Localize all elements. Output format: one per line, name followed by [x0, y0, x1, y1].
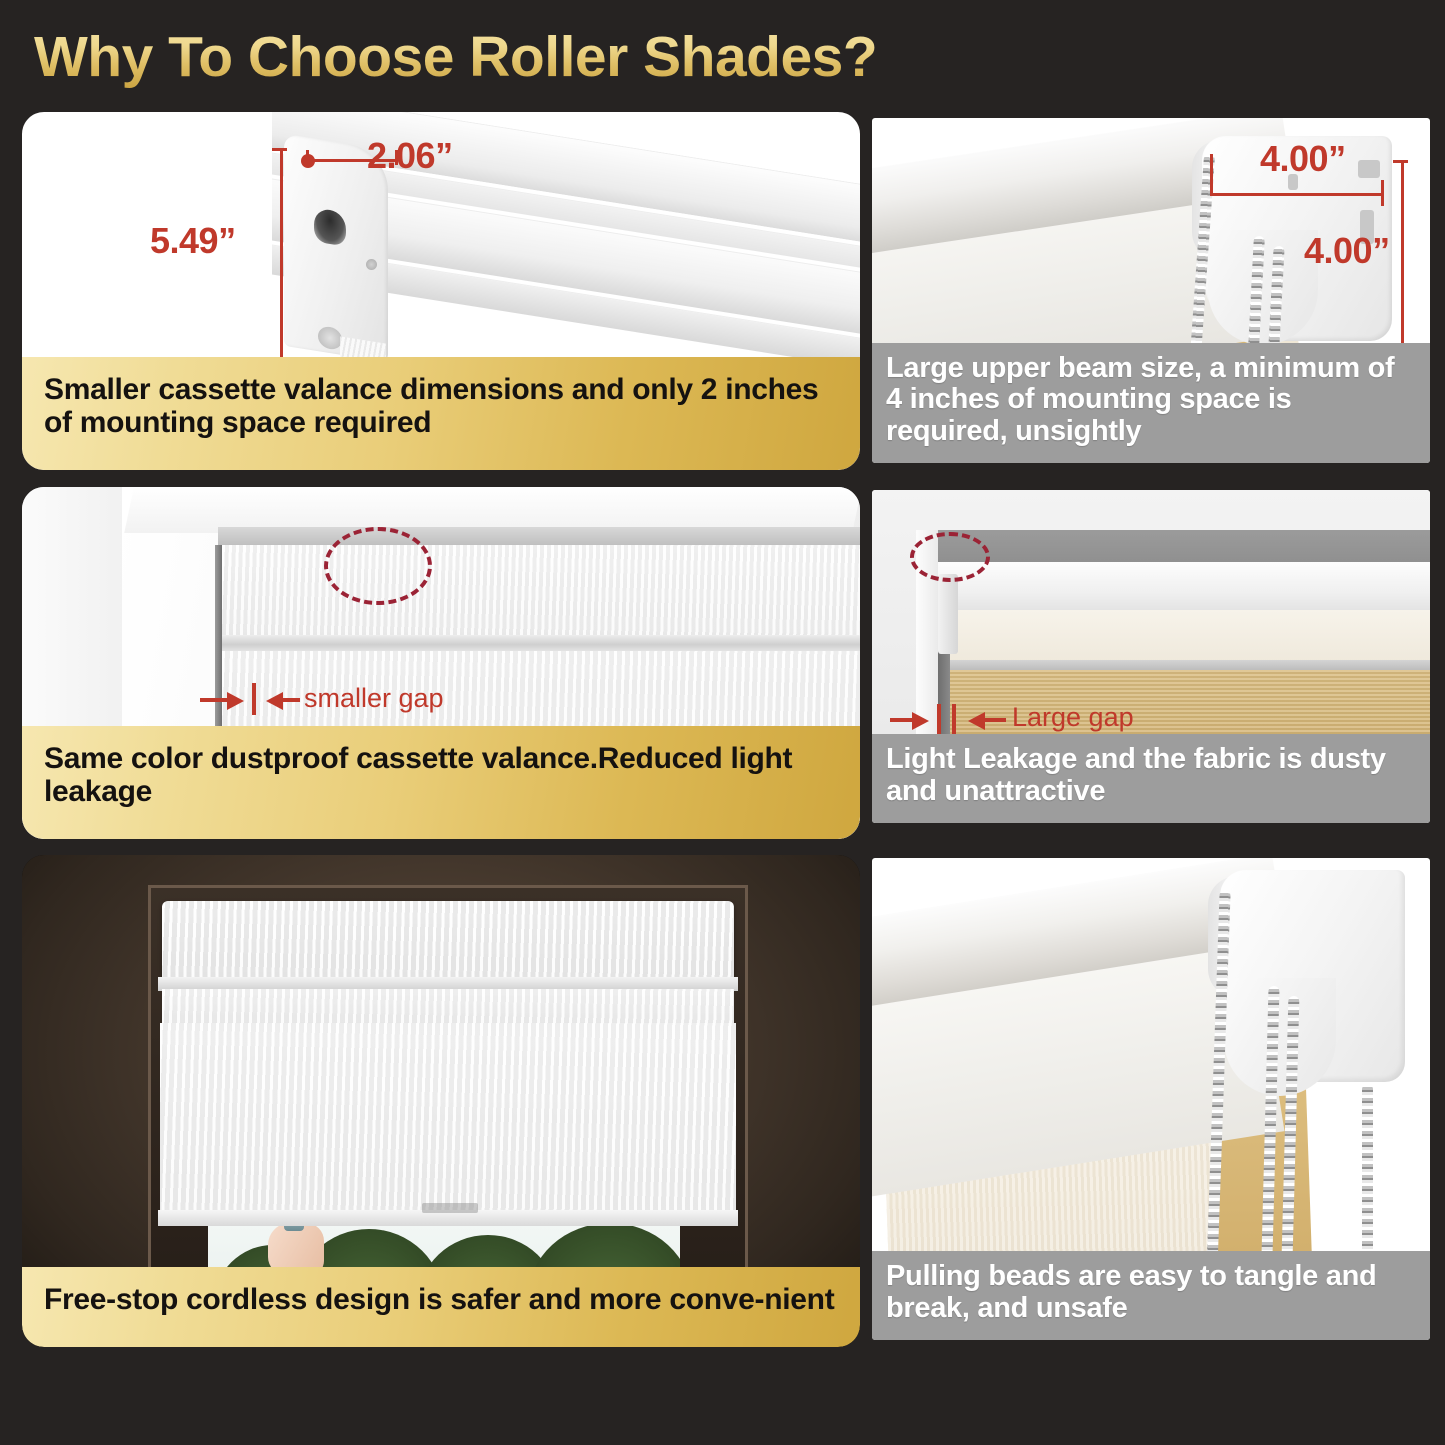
caption-text: Light Leakage and the fabric is dusty an… — [886, 744, 1416, 807]
panel-dustproof-cassette-valance: smaller gap Same color dustproof cassett… — [22, 487, 860, 839]
panel-cassette-valance-dimensions: 2.06” 5.49” Smaller cassette valance dim… — [22, 112, 860, 470]
bracket-lower-lobe — [1224, 978, 1336, 1096]
gap-arrow-right-icon — [912, 712, 929, 730]
panel-large-upper-beam: 4.00” 4.00” Large upper beam size, a min… — [872, 118, 1430, 463]
panel-free-stop-cordless: Free-stop cordless design is safer and m… — [22, 855, 860, 1347]
beam-height-dimension-label: 4.00” — [1304, 230, 1390, 272]
panel-light-leakage: Large gap Light Leakage and the fabric i… — [872, 490, 1430, 823]
gap-arrow-left-icon — [968, 712, 985, 730]
caption-pulling-beads: Pulling beads are easy to tangle and bre… — [872, 1251, 1430, 1340]
caption-large-upper-beam: Large upper beam size, a minimum of 4 in… — [872, 343, 1430, 463]
shade-fabric — [160, 1023, 736, 1223]
side-bracket — [938, 574, 958, 654]
caption-text: Smaller cassette valance dimensions and … — [44, 373, 838, 440]
gap-arrow-stem-right — [984, 718, 1006, 722]
width-dimension-label: 2.06” — [367, 135, 453, 177]
caption-cassette-valance-dimensions: Smaller cassette valance dimensions and … — [22, 357, 860, 470]
shade-rail — [218, 635, 860, 651]
gap-tick-marker-b — [952, 704, 956, 734]
caption-text: Large upper beam size, a minimum of 4 in… — [886, 353, 1416, 447]
height-dimension-label: 5.49” — [150, 220, 236, 262]
gap-arrow-left-icon — [266, 692, 283, 710]
caption-text: Free-stop cordless design is safer and m… — [44, 1283, 834, 1317]
gap-tick-marker — [252, 683, 256, 715]
gap-arrow-stem-right — [282, 698, 300, 702]
gap-arrow-right-icon — [227, 692, 244, 710]
caption-light-leakage: Light Leakage and the fabric is dusty an… — [872, 734, 1430, 823]
brand-tag — [422, 1203, 478, 1213]
beam-face — [936, 610, 1430, 662]
shade-upper-section — [222, 545, 860, 637]
caption-text: Pulling beads are easy to tangle and bre… — [886, 1261, 1416, 1324]
gap-label: smaller gap — [304, 683, 444, 714]
panel-pulling-beads: Pulling beads are easy to tangle and bre… — [872, 858, 1430, 1340]
gap-highlight-ellipse — [324, 527, 432, 605]
cassette-valance — [162, 901, 734, 981]
gap-label: Large gap — [1012, 702, 1134, 733]
caption-dustproof-cassette-valance: Same color dustproof cassette valance.Re… — [22, 726, 860, 839]
gap-arrow-stem-left — [200, 698, 230, 702]
beam-width-dimension-label: 4.00” — [1260, 138, 1346, 180]
comparison-grid: 2.06” 5.49” Smaller cassette valance dim… — [0, 0, 1445, 1445]
endcap-screw-upper — [366, 259, 377, 270]
gap-highlight-ellipse — [910, 532, 990, 582]
caption-text: Same color dustproof cassette valance.Re… — [44, 742, 838, 809]
gap-tick-marker-a — [937, 704, 941, 734]
caption-free-stop-cordless: Free-stop cordless design is safer and m… — [22, 1267, 860, 1347]
